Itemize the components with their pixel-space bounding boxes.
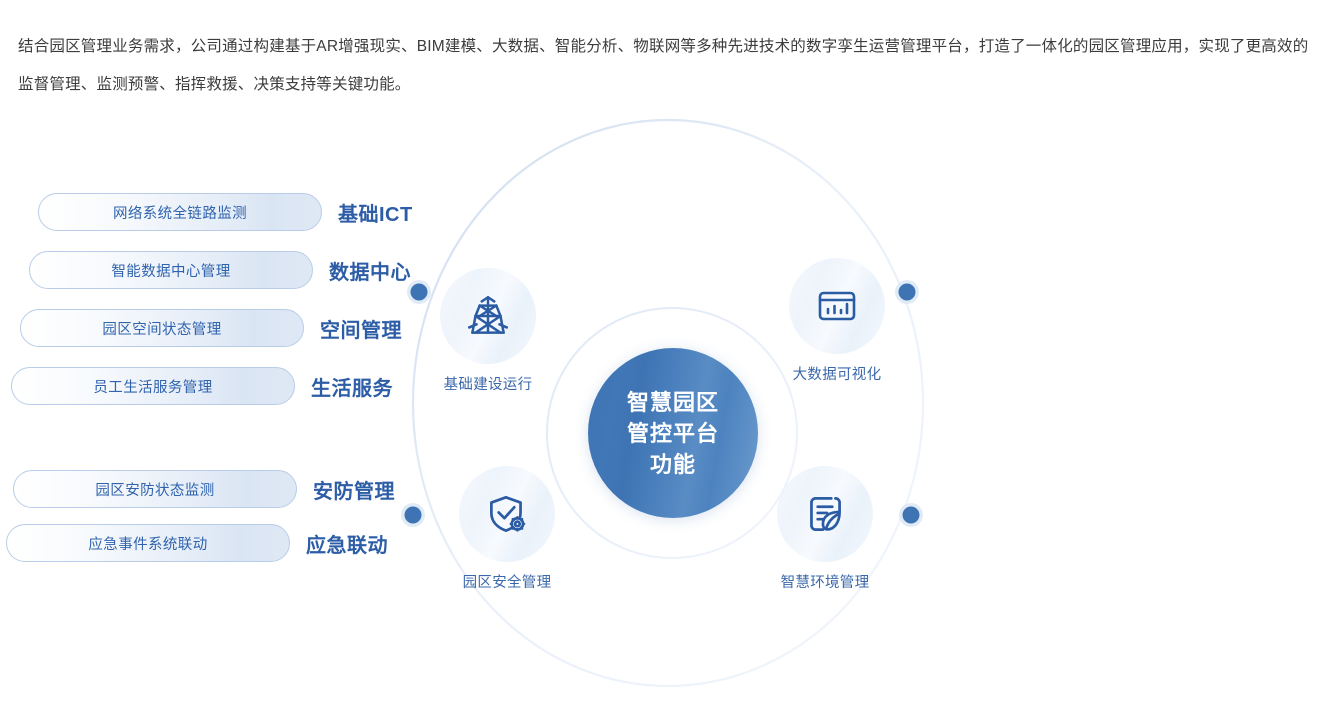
infographic-page: 结合园区管理业务需求，公司通过构建基于AR增强现实、BIM建模、大数据、智能分析… (0, 0, 1340, 710)
node-bubble (440, 268, 536, 364)
shield-check-gear-icon (482, 489, 532, 539)
node-infrastructure-operation[interactable]: 基础建设运行 (440, 268, 536, 394)
transmission-tower-icon (463, 291, 513, 341)
node-caption: 大数据可视化 (789, 363, 885, 384)
document-leaf-icon (800, 489, 850, 539)
pill-label: 园区安防状态监测 (13, 470, 297, 508)
pill-label: 网络系统全链路监测 (38, 193, 322, 231)
category-label: 空间管理 (320, 314, 402, 343)
category-label: 基础ICT (338, 198, 413, 227)
center-hub: 智慧园区 管控平台 功能 (588, 348, 758, 518)
center-hub-title: 智慧园区 管控平台 功能 (627, 387, 719, 480)
bar-chart-window-icon (813, 282, 861, 330)
node-caption: 园区安全管理 (459, 571, 555, 592)
node-bubble (459, 466, 555, 562)
smart-park-platform-diagram: 智慧园区 管控平台 功能 基础建设运行 (0, 118, 1340, 710)
node-caption: 基础建设运行 (440, 373, 536, 394)
node-caption: 智慧环境管理 (777, 571, 873, 592)
node-big-data-visualization[interactable]: 大数据可视化 (789, 258, 885, 384)
row-space-management[interactable]: 园区空间状态管理 空间管理 (20, 309, 402, 347)
pill-label: 员工生活服务管理 (11, 367, 295, 405)
connector-dot-top-right (895, 280, 919, 304)
node-smart-environment-management[interactable]: 智慧环境管理 (777, 466, 873, 592)
category-label: 数据中心 (329, 256, 411, 285)
connector-dot-bottom-left (401, 503, 425, 527)
pill-label: 智能数据中心管理 (29, 251, 313, 289)
row-basic-ict[interactable]: 网络系统全链路监测 基础ICT (38, 193, 413, 231)
pill-label: 应急事件系统联动 (6, 524, 290, 562)
row-life-service[interactable]: 员工生活服务管理 生活服务 (11, 367, 393, 405)
row-emergency-linkage[interactable]: 应急事件系统联动 应急联动 (6, 524, 388, 562)
node-bubble (777, 466, 873, 562)
node-park-safety-management[interactable]: 园区安全管理 (459, 466, 555, 592)
row-data-center[interactable]: 智能数据中心管理 数据中心 (29, 251, 411, 289)
intro-paragraph: 结合园区管理业务需求，公司通过构建基于AR增强现实、BIM建模、大数据、智能分析… (18, 28, 1322, 104)
connector-dot-bottom-right (899, 503, 923, 527)
row-security-management[interactable]: 园区安防状态监测 安防管理 (13, 470, 395, 508)
category-label: 应急联动 (306, 529, 388, 558)
node-bubble (789, 258, 885, 354)
category-label: 安防管理 (313, 475, 395, 504)
pill-label: 园区空间状态管理 (20, 309, 304, 347)
category-label: 生活服务 (311, 372, 393, 401)
